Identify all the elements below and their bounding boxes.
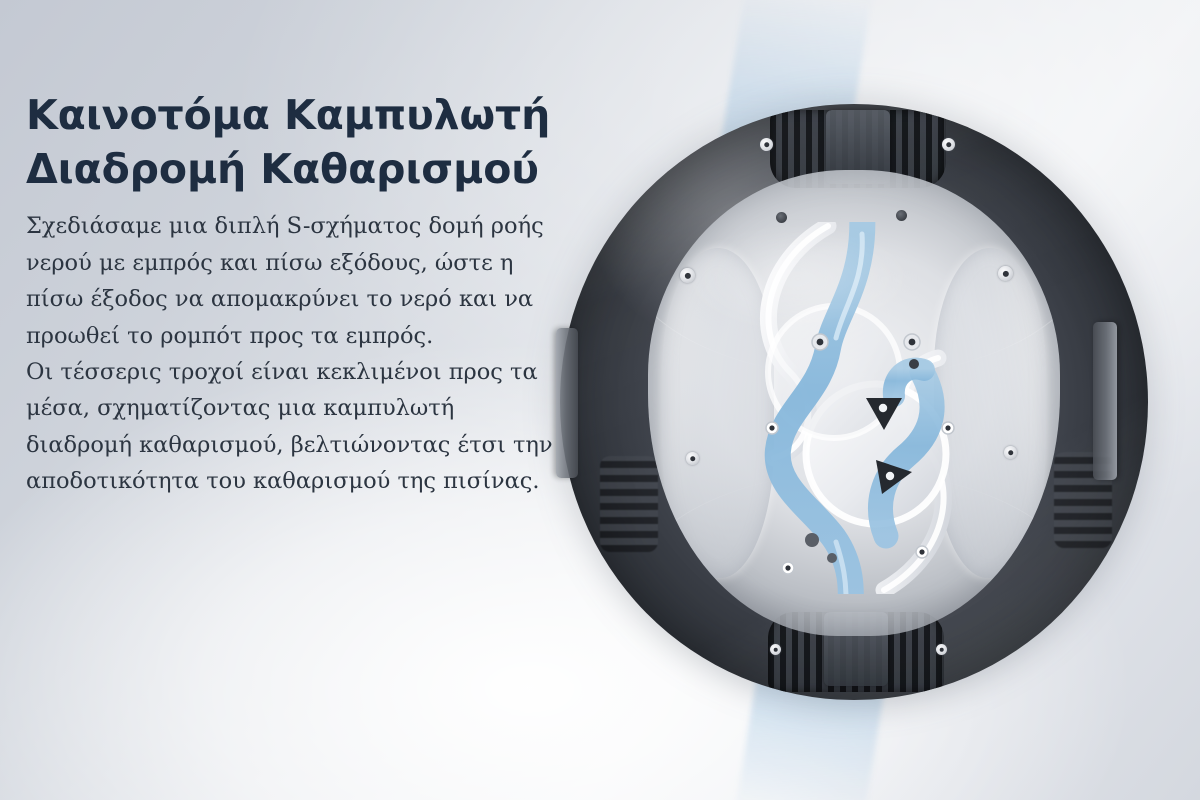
double-s-water-flow-channel bbox=[716, 222, 996, 594]
right-side-bumper bbox=[1093, 322, 1117, 480]
page-title: Καινοτόμα Καμπυλωτή Διαδρομή Καθαρισμού bbox=[26, 88, 566, 196]
shell-screw bbox=[942, 138, 955, 151]
text-block: Καινοτόμα Καμπυλωτή Διαδρομή Καθαρισμού … bbox=[26, 88, 566, 500]
shell-screw bbox=[936, 644, 947, 655]
robot-shell bbox=[560, 104, 1148, 700]
left-side-wheel-slot bbox=[600, 456, 658, 552]
chassis-screw bbox=[1004, 446, 1017, 459]
chassis-screw bbox=[680, 268, 695, 283]
chassis-screw bbox=[686, 452, 699, 465]
marketing-banner: Καινοτόμα Καμπυλωτή Διαδρομή Καθαρισμού … bbox=[0, 0, 1200, 800]
chassis-window bbox=[648, 170, 1060, 636]
left-side-bumper bbox=[556, 328, 578, 478]
shell-screw bbox=[770, 644, 781, 655]
description-paragraph: Σχεδιάσαμε μια διπλή S-σχήματος δομή ροή… bbox=[26, 208, 566, 500]
robot-illustration bbox=[540, 0, 1200, 800]
chassis-screw bbox=[896, 210, 907, 221]
chassis-screw bbox=[998, 266, 1013, 281]
shell-screw bbox=[760, 138, 773, 151]
